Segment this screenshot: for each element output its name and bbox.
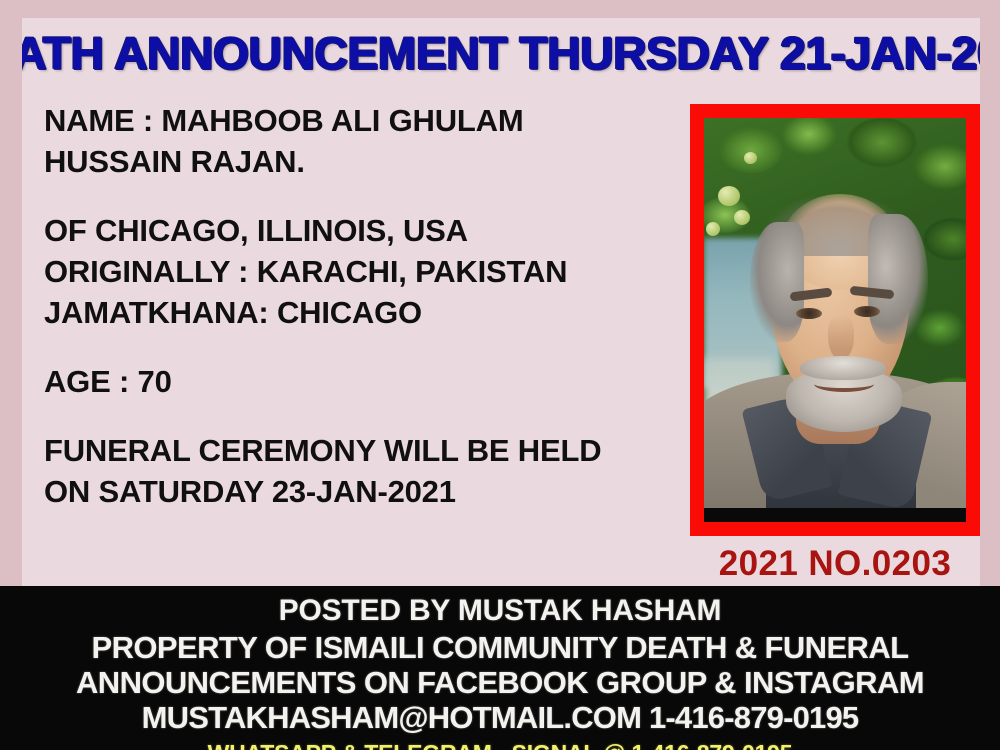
footer-line-whatsapp: WHATSAPP & TELEGRAM - SIGNAL @ 1-416-879… xyxy=(0,737,1000,750)
detail-paragraph-location: OF CHICAGO, ILLINOIS, USA ORIGINALLY : K… xyxy=(44,210,684,333)
detail-paragraph-age: AGE : 70 xyxy=(44,361,684,402)
page-title: DEATH ANNOUNCEMENT THURSDAY 21-JAN-2021 xyxy=(22,30,980,78)
fruit-icon xyxy=(734,210,750,225)
portrait-photo xyxy=(704,118,966,522)
announcement-details: NAME : MAHBOOB ALI GHULAM HUSSAIN RAJAN.… xyxy=(44,100,684,512)
detail-line: AGE : 70 xyxy=(44,361,684,402)
fruit-icon xyxy=(744,152,757,164)
footer-credits: POSTED BY MUSTAK HASHAM PROPERTY OF ISMA… xyxy=(0,586,1000,750)
fruit-icon xyxy=(706,222,720,236)
photo-frame xyxy=(690,104,980,536)
detail-line: HUSSAIN RAJAN. xyxy=(44,141,684,182)
hair-right xyxy=(868,214,928,344)
detail-paragraph-funeral: FUNERAL CEREMONY WILL BE HELD ON SATURDA… xyxy=(44,430,684,512)
detail-line: FUNERAL CEREMONY WILL BE HELD xyxy=(44,430,684,471)
detail-line: ORIGINALLY : KARACHI, PAKISTAN xyxy=(44,251,684,292)
detail-paragraph-name: NAME : MAHBOOB ALI GHULAM HUSSAIN RAJAN. xyxy=(44,100,684,182)
eye-left xyxy=(796,308,822,319)
eye-right xyxy=(854,306,880,317)
footer-line-announcements: ANNOUNCEMENTS ON FACEBOOK GROUP & INSTAG… xyxy=(0,665,1000,700)
hair-left xyxy=(750,222,804,342)
photo-bottom-band xyxy=(704,508,966,522)
detail-line: NAME : MAHBOOB ALI GHULAM xyxy=(44,100,684,141)
footer-line-email-phone: MUSTAKHASHAM@HOTMAIL.COM 1-416-879-0195 xyxy=(0,700,1000,735)
nose xyxy=(828,314,854,360)
mouth xyxy=(814,376,874,392)
detail-line: OF CHICAGO, ILLINOIS, USA xyxy=(44,210,684,251)
fruit-icon xyxy=(718,186,740,206)
detail-line: ON SATURDAY 23-JAN-2021 xyxy=(44,471,684,512)
title-banner: DEATH ANNOUNCEMENT THURSDAY 21-JAN-2021 xyxy=(22,18,980,90)
footer-line-posted-by: POSTED BY MUSTAK HASHAM xyxy=(0,592,1000,630)
announcement-serial-number: 2021 NO.0203 xyxy=(690,544,980,584)
detail-line: JAMATKHANA: CHICAGO xyxy=(44,292,684,333)
death-announcement-poster: DEATH ANNOUNCEMENT THURSDAY 21-JAN-2021 … xyxy=(0,0,1000,750)
footer-line-property: PROPERTY OF ISMAILI COMMUNITY DEATH & FU… xyxy=(0,630,1000,665)
